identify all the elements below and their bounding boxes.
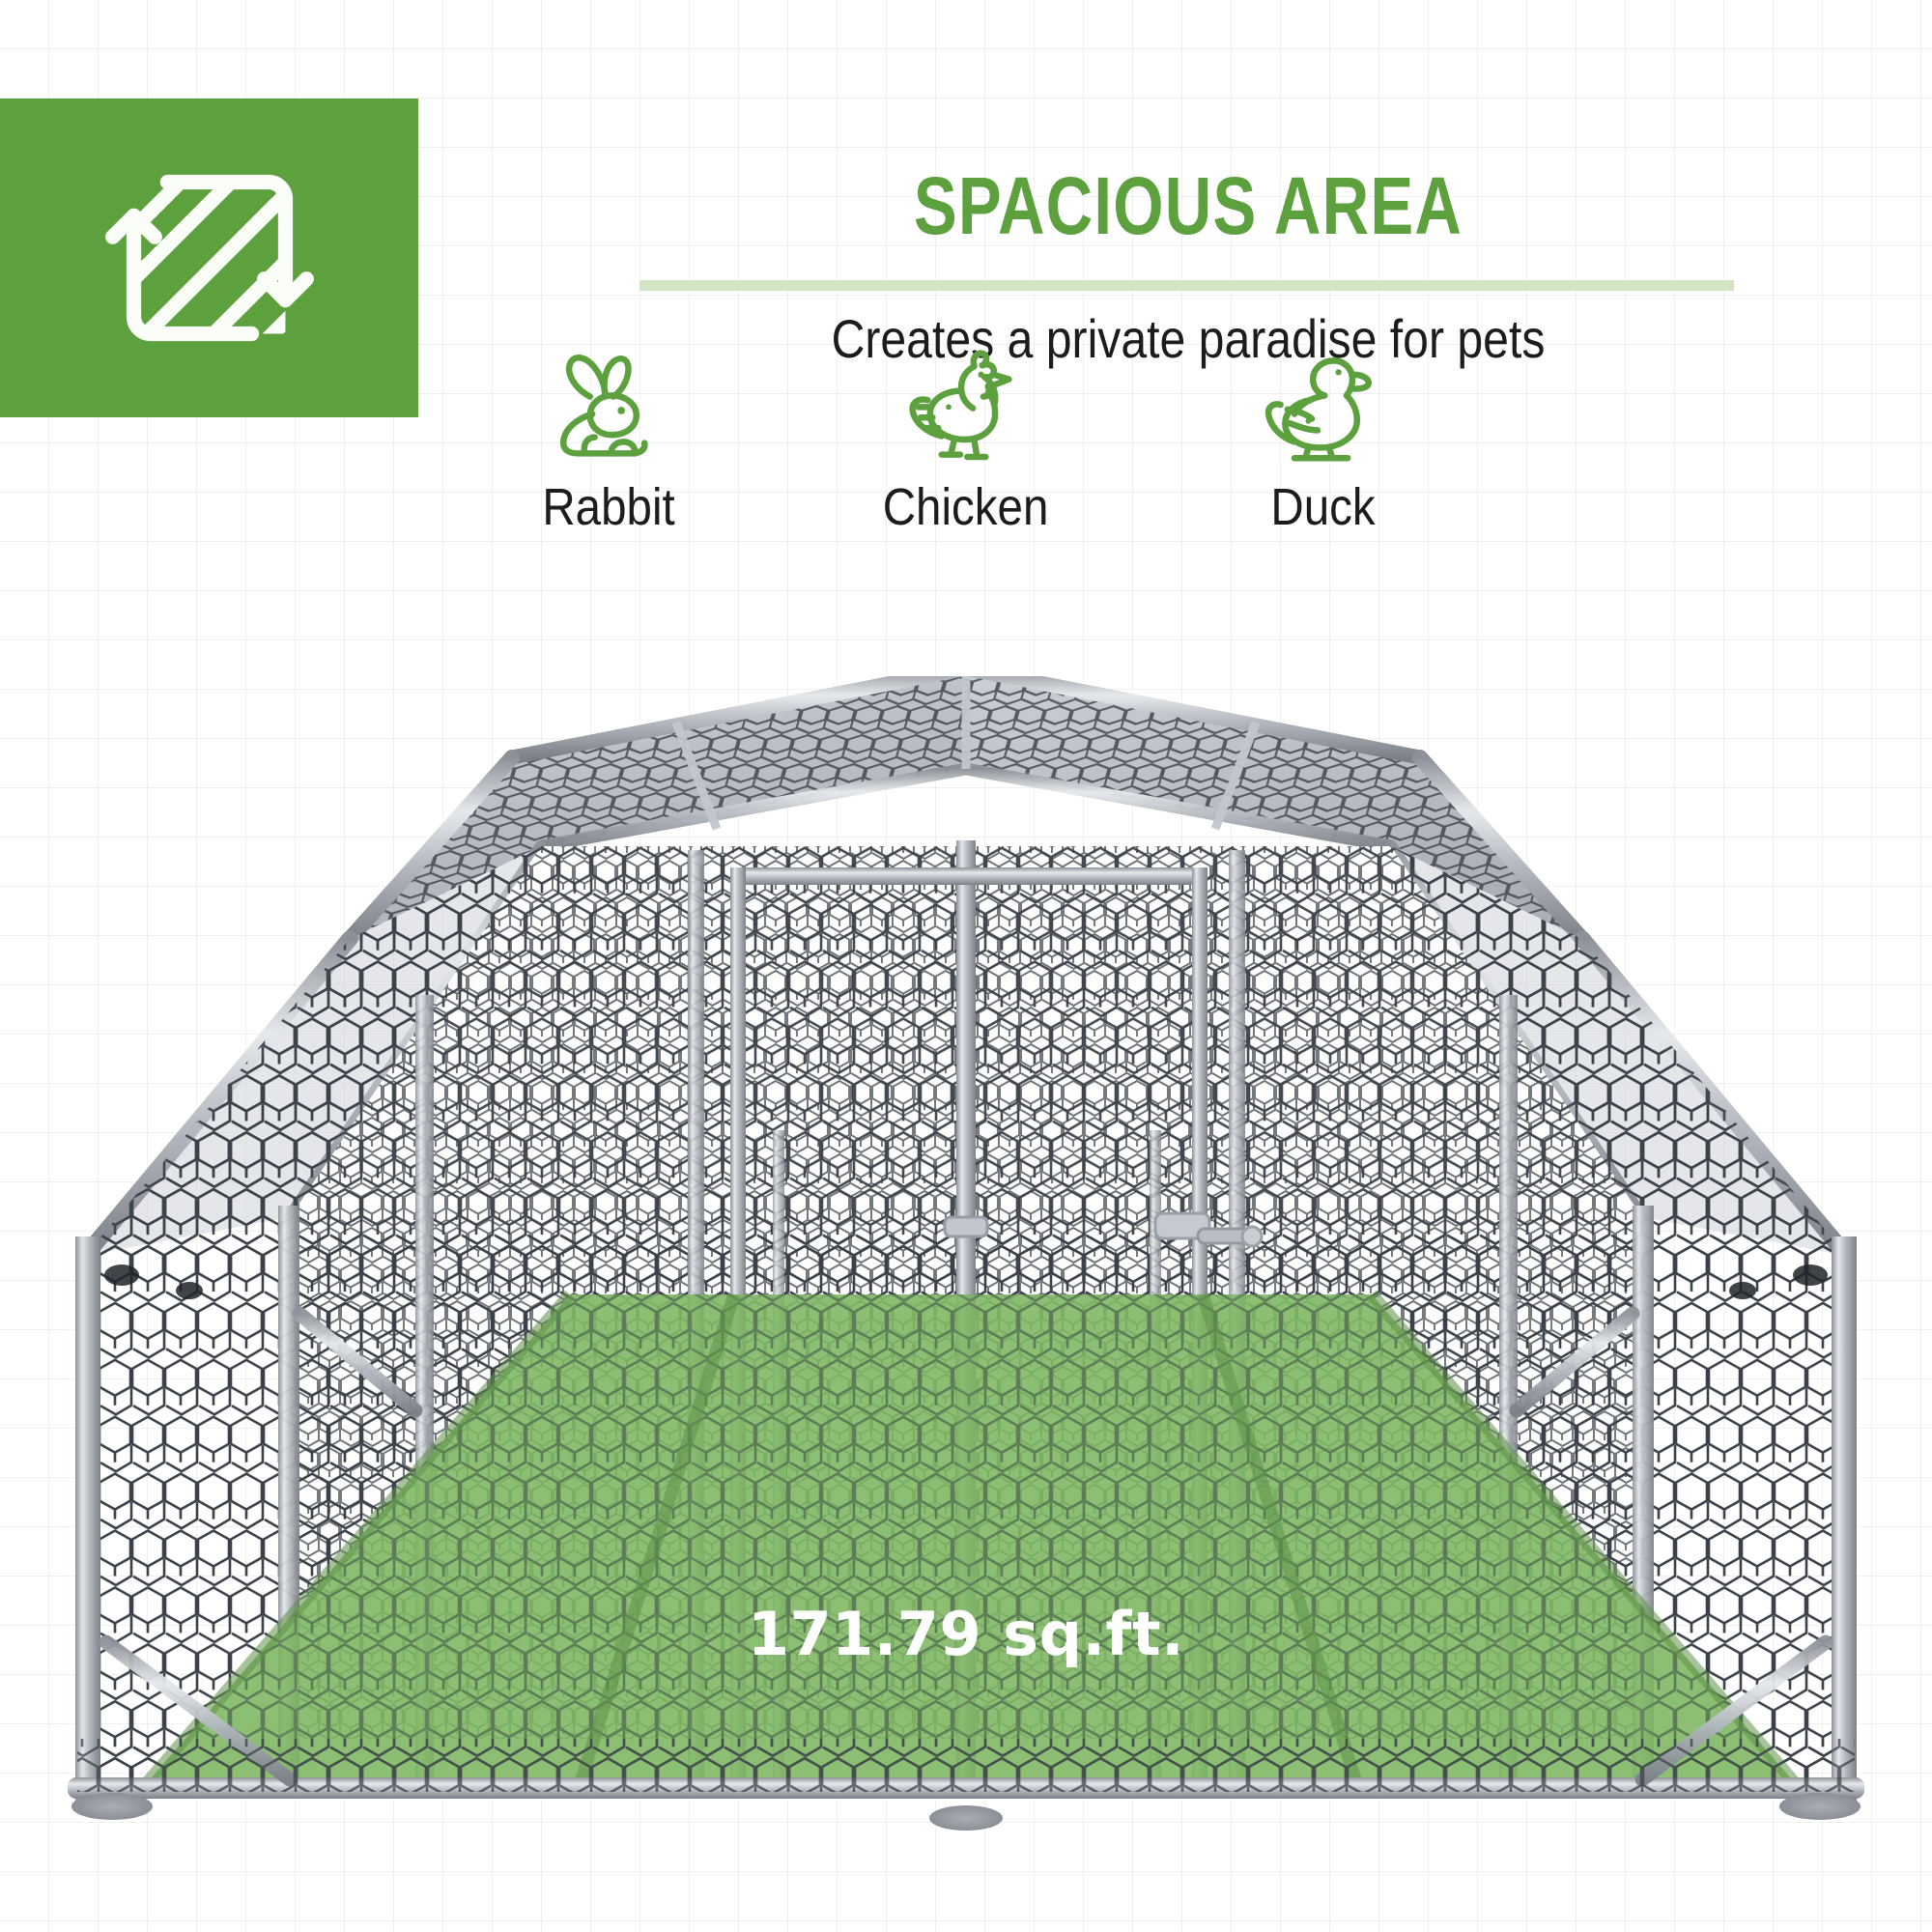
list-item: Chicken bbox=[821, 346, 1111, 537]
supported-animals-list: Rabbit bbox=[464, 346, 1468, 655]
rabbit-icon bbox=[545, 346, 672, 464]
feature-badge bbox=[0, 99, 418, 417]
list-item: Rabbit bbox=[464, 346, 753, 537]
list-item-label: Rabbit bbox=[542, 477, 674, 537]
page-title: SPACIOUS AREA bbox=[732, 166, 1644, 245]
list-item: Duck bbox=[1179, 346, 1468, 537]
duck-icon bbox=[1260, 346, 1387, 464]
list-item-label: Chicken bbox=[883, 477, 1049, 537]
area-expand-icon bbox=[104, 153, 315, 363]
product-illustration bbox=[0, 676, 1932, 1932]
list-item-label: Duck bbox=[1271, 477, 1376, 537]
chicken-icon bbox=[902, 346, 1030, 464]
title-divider bbox=[639, 280, 1734, 291]
